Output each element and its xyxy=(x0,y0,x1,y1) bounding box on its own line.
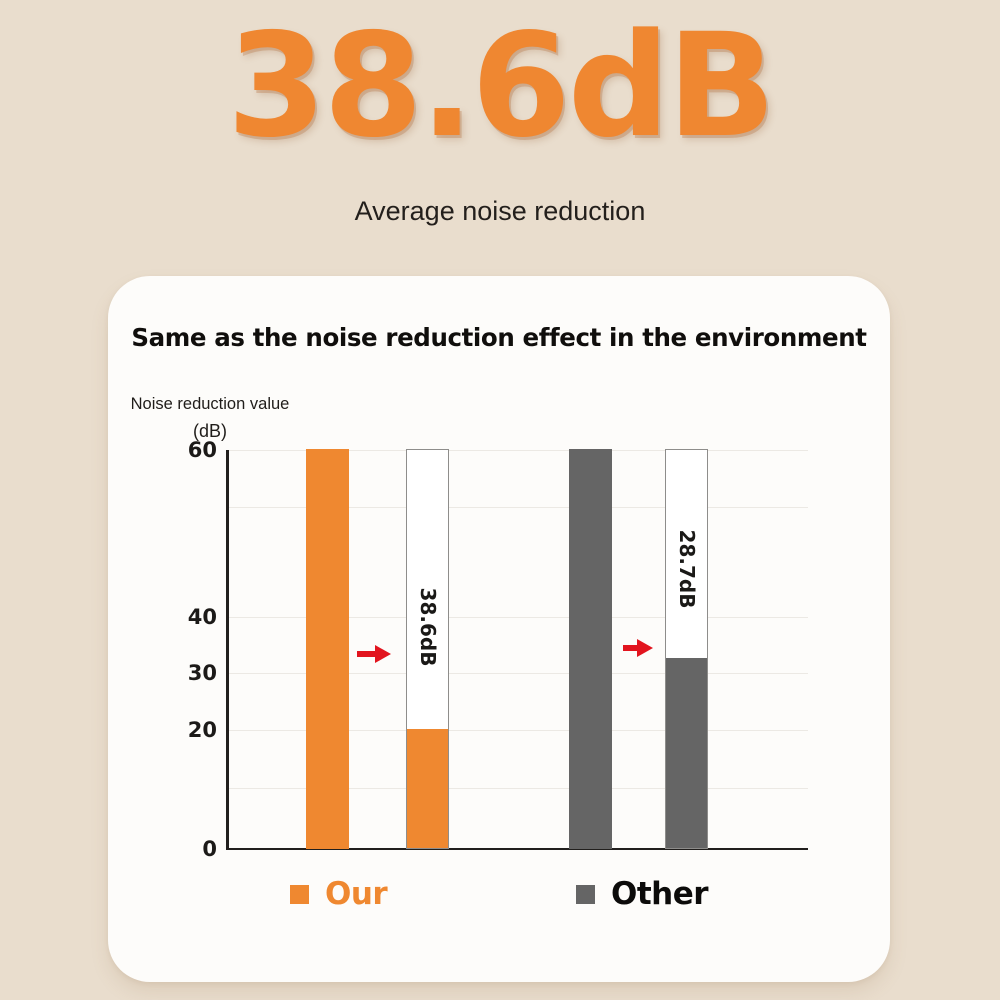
legend-item-other[interactable]: Other xyxy=(576,876,708,912)
y-tick-label-30: 30 xyxy=(188,661,217,685)
y-tick-label-0: 0 xyxy=(202,837,217,861)
bar-other-before[interactable] xyxy=(569,449,612,849)
bar-our-after[interactable]: 38.6dB xyxy=(406,449,449,849)
right-arrow-icon-our xyxy=(357,643,391,665)
y-axis-caption-line2: value xyxy=(250,395,289,413)
legend-swatch-other-icon xyxy=(576,885,595,904)
y-axis-caption-line1: Noise reduction xyxy=(131,395,246,413)
hero-average-noise-reduction-value: 38.6dB xyxy=(0,14,1000,157)
hero-subtitle: Average noise reduction xyxy=(0,196,1000,227)
bar-our-after-label: 38.6dB xyxy=(416,588,440,667)
y-tick-label-20: 20 xyxy=(188,718,217,742)
chart-card: Same as the noise reduction effect in th… xyxy=(108,276,890,982)
legend-item-our[interactable]: Our xyxy=(290,876,387,912)
right-arrow-icon-other xyxy=(619,637,653,659)
y-axis-caption: Noise reduction value (dB) xyxy=(130,394,290,443)
chart-legend: Our Other xyxy=(108,876,890,926)
legend-label-our: Our xyxy=(325,876,387,912)
bar-our-before[interactable] xyxy=(306,449,349,849)
bar-other-after-fill xyxy=(666,658,707,848)
y-tick-label-40: 40 xyxy=(188,605,217,629)
y-axis-line xyxy=(226,450,229,850)
bar-our-after-fill xyxy=(407,729,448,848)
y-tick-label-60: 60 xyxy=(188,438,217,462)
legend-swatch-our-icon xyxy=(290,885,309,904)
chart-title: Same as the noise reduction effect in th… xyxy=(108,323,890,352)
legend-label-other: Other xyxy=(611,876,708,912)
chart-plot-area: 60 40 30 20 0 38.6dB 28.7dB xyxy=(226,450,808,850)
bar-other-after[interactable]: 28.7dB xyxy=(665,449,708,849)
bar-other-after-label: 28.7dB xyxy=(675,530,699,609)
